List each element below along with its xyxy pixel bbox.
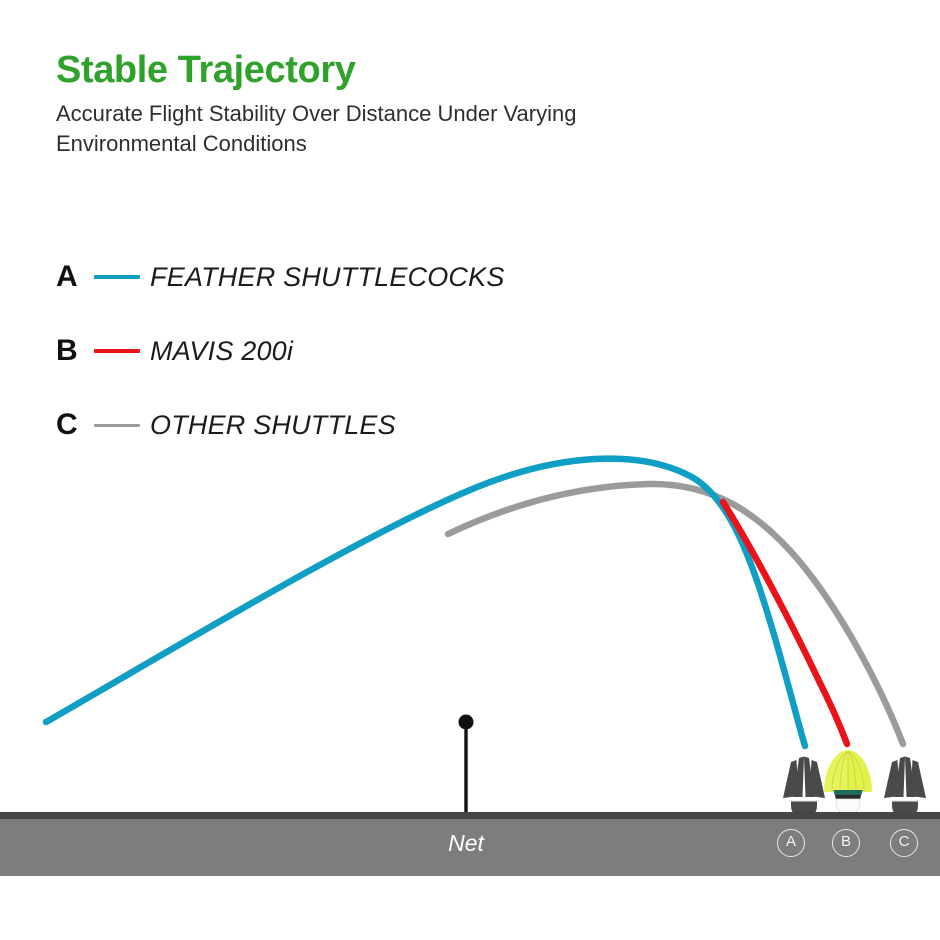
marker-badge-a[interactable]: A [777,829,805,857]
marker-badge-c[interactable]: C [890,829,918,857]
marker-badge-b[interactable]: B [832,829,860,857]
trajectory-line-mavis-200i [723,502,847,744]
trajectory-line-other-shuttles [448,484,903,744]
net [459,715,474,817]
trajectory-plot [0,0,940,940]
court-floor: Net A B C [0,812,940,876]
shuttle-a [783,757,825,820]
shuttle-b [824,750,872,815]
trajectory-line-feather-shuttlecocks [46,459,805,746]
net-post-dot [459,715,474,730]
floor-edge [0,812,940,819]
shuttle-c [884,757,926,820]
trajectory-infographic: Stable Trajectory Accurate Flight Stabil… [0,0,940,940]
